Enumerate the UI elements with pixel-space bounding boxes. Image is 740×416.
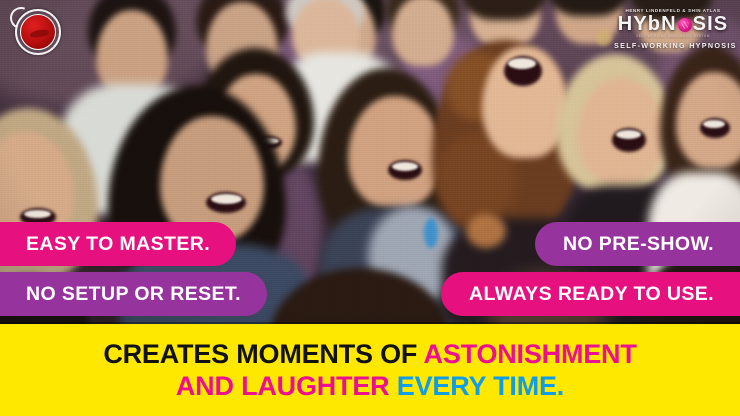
headline-line-2: AND LAUGHTER EVERY TIME.: [176, 372, 564, 400]
logo-word-part2: bN: [648, 14, 677, 34]
headline-line1-black: CREATES MOMENTS OF: [103, 339, 423, 369]
feature-pill-always-ready-to-use: ALWAYS READY TO USE.: [441, 272, 740, 316]
logo-word-part3: SIS: [693, 14, 729, 34]
headline-band-top-edge: [0, 322, 740, 324]
red-seal-watermark-icon: [15, 9, 61, 55]
logo-word-part1: HY: [618, 14, 648, 34]
brand-logo: HENRY LINDENFELD & SHIN ATLAS HYbNSIS SE…: [614, 8, 732, 50]
logo-credit-line: HENRY LINDENFELD & SHIN ATLAS: [614, 8, 732, 13]
promo-slide: HENRY LINDENFELD & SHIN ATLAS HYbNSIS SE…: [0, 0, 740, 416]
feature-pill-easy-to-master: EASY TO MASTER.: [0, 222, 236, 266]
headline-line-1: CREATES MOMENTS OF ASTONISHMENT: [103, 340, 636, 368]
feature-pill-label: NO PRE-SHOW.: [563, 233, 714, 256]
logo-subtitle: SELF-WORKING HYPNOSIS: [614, 41, 732, 50]
headline-band: CREATES MOMENTS OF ASTONISHMENT AND LAUG…: [0, 324, 740, 416]
feature-pill-label: NO SETUP OR RESET.: [26, 283, 241, 306]
feature-pill-no-setup-or-reset: NO SETUP OR RESET.: [0, 272, 267, 316]
headline-line2-magenta: AND LAUGHTER: [176, 371, 397, 401]
logo-micro-line: SELF WORKING MIND MAGIC SYSTEM: [614, 34, 732, 38]
headline-line2-blue: EVERY TIME.: [397, 371, 564, 401]
feature-pill-label: EASY TO MASTER.: [26, 233, 210, 256]
logo-brain-o-icon: [678, 18, 692, 32]
headline-line1-magenta: ASTONISHMENT: [424, 339, 637, 369]
feature-pill-label: ALWAYS READY TO USE.: [469, 283, 714, 306]
feature-pill-no-pre-show: NO PRE-SHOW.: [535, 222, 740, 266]
logo-wordmark: HYbNSIS: [614, 14, 732, 34]
